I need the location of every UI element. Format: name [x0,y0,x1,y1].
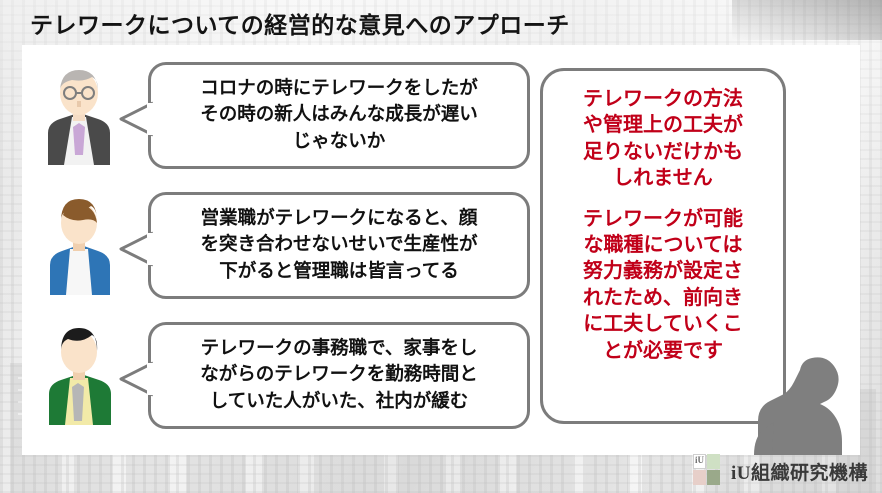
iu-logo-mark-icon: iU [693,454,723,488]
avatar-opinion-1 [36,61,122,165]
opinion-bubble-1: コロナの時にテレワークをしたが その時の新人はみんな成長が遅い じゃないか [148,62,530,169]
opinion-text-2: 営業職がテレワークになると、顔 を突き合わせないせいで生産性が 下がると管理職は… [201,206,478,285]
opinion-bubble-3: テレワークの事務職で、家事をし ながらのテレワークを勤務時間と していた人がいた… [148,322,530,429]
thinking-person-silhouette [710,305,860,455]
opinion-text-3: テレワークの事務職で、家事をし ながらのテレワークを勤務時間と していた人がいた… [200,336,478,415]
bubble-tail-icon [117,231,153,267]
content-panel: コロナの時にテレワークをしたが その時の新人はみんな成長が遅い じゃないか 営業… [22,45,860,455]
background-dark-corner [732,0,882,40]
avatar-opinion-2 [36,191,122,295]
avatar-opinion-3 [36,321,122,425]
bubble-tail-icon [117,101,153,137]
footer-logo: iU iU組織研究機構 [693,454,868,488]
bubble-tail-icon [117,361,153,397]
logo-mark-text: iU [695,455,704,465]
organization-name: iU組織研究機構 [731,458,868,485]
opinion-bubble-2: 営業職がテレワークになると、顔 を突き合わせないせいで生産性が 下がると管理職は… [148,192,530,299]
opinion-text-1: コロナの時にテレワークをしたが その時の新人はみんな成長が遅い じゃないか [200,76,478,155]
page-title: テレワークについての経営的な意見へのアプローチ [30,6,570,40]
response-paragraph-1: テレワークの方法 や管理上の工夫が 足りないだけかも しれません [553,85,773,191]
